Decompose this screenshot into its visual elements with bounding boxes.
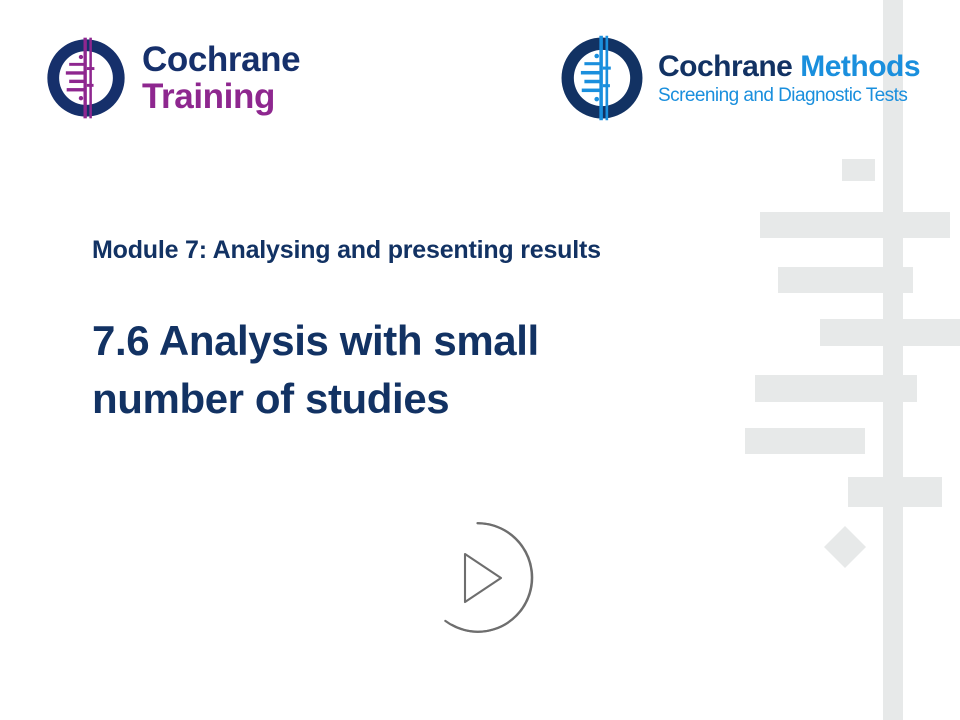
logo-training-line1: Cochrane <box>142 42 300 77</box>
logo-methods-line1: Cochrane Methods <box>658 52 920 82</box>
cochrane-training-logo: Cochrane Training <box>44 36 300 120</box>
decoration-bar <box>778 267 913 293</box>
decoration-bar <box>848 477 942 507</box>
decoration-diamond <box>824 526 866 568</box>
logo-methods-word-methods: Methods <box>800 50 920 83</box>
cochrane-logo-mark-icon <box>558 34 646 122</box>
logo-training-line2: Training <box>142 79 300 114</box>
decoration-bar <box>745 428 865 454</box>
page-title: 7.6 Analysis with small number of studie… <box>92 312 732 428</box>
play-button[interactable] <box>421 521 534 634</box>
play-button-circle-arc-2 <box>452 523 532 632</box>
cochrane-methods-logo: Cochrane Methods Screening and Diagnosti… <box>558 34 920 122</box>
decoration-bar <box>842 159 875 181</box>
cochrane-logo-mark-icon <box>44 36 128 120</box>
logo-methods-word-cochrane: Cochrane <box>658 50 792 83</box>
logo-methods-subtitle: Screening and Diagnostic Tests <box>658 86 920 105</box>
decoration-bar <box>820 319 960 346</box>
page-title-line-1: 7.6 Analysis with small <box>92 312 732 370</box>
decoration-bar <box>760 212 950 238</box>
play-triangle-icon <box>465 554 501 602</box>
slide-root: Cochrane Training Cochrane Methods Scree… <box>0 0 960 720</box>
play-button-circle <box>445 523 532 632</box>
module-label: Module 7: Analysing and presenting resul… <box>92 236 601 265</box>
page-title-line-2: number of studies <box>92 370 732 428</box>
decoration-bar <box>755 375 917 402</box>
